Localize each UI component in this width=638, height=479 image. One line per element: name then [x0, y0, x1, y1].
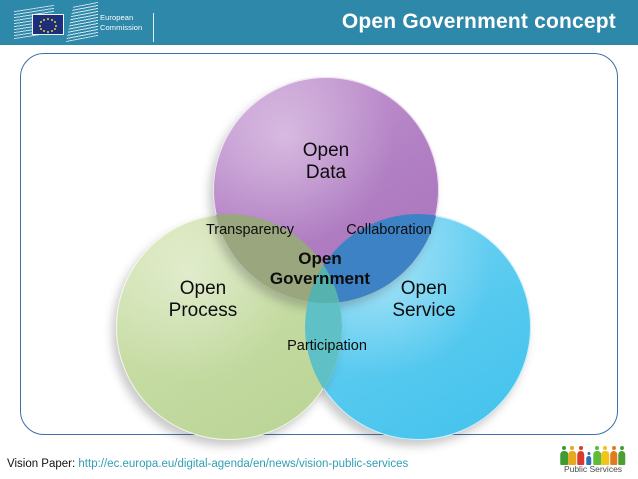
venn-label-open-data: Open Data: [256, 140, 396, 185]
venn-label-open-government: Open Government: [225, 249, 415, 290]
person-icon: [601, 446, 609, 465]
person-icon: [618, 446, 626, 465]
page-title: Open Government concept: [342, 10, 616, 34]
european-commission-logo: European Commission: [14, 5, 136, 39]
eu-flag-icon: [32, 14, 64, 35]
vision-paper-link[interactable]: http://ec.europa.eu/digital-agenda/en/ne…: [78, 458, 408, 470]
logo-divider: [153, 13, 154, 42]
public-services-caption: Public Services: [556, 464, 630, 474]
person-icon: [610, 446, 618, 465]
logo-label: European Commission: [100, 13, 142, 32]
vision-paper-prefix: Vision Paper:: [7, 458, 75, 470]
header-bar: European Commission Open Government conc…: [0, 0, 638, 45]
person-icon: [568, 446, 576, 465]
vision-paper-reference: Vision Paper: http://ec.europa.eu/digita…: [7, 458, 408, 470]
person-icon: [577, 446, 585, 465]
footer: Vision Paper: http://ec.europa.eu/digita…: [0, 443, 638, 479]
public-services-figures-icon: [560, 444, 626, 465]
person-icon: [593, 446, 601, 465]
venn-label-collaboration: Collaboration: [314, 222, 464, 239]
public-services-logo: Public Services: [556, 443, 630, 479]
venn-label-transparency: Transparency: [175, 222, 325, 239]
logo-stripes-right-icon: [66, 2, 98, 42]
venn-label-participation: Participation: [252, 338, 402, 355]
venn-diagram: Open Data Open Process Open Service Tran…: [20, 53, 618, 435]
person-icon: [560, 446, 568, 465]
